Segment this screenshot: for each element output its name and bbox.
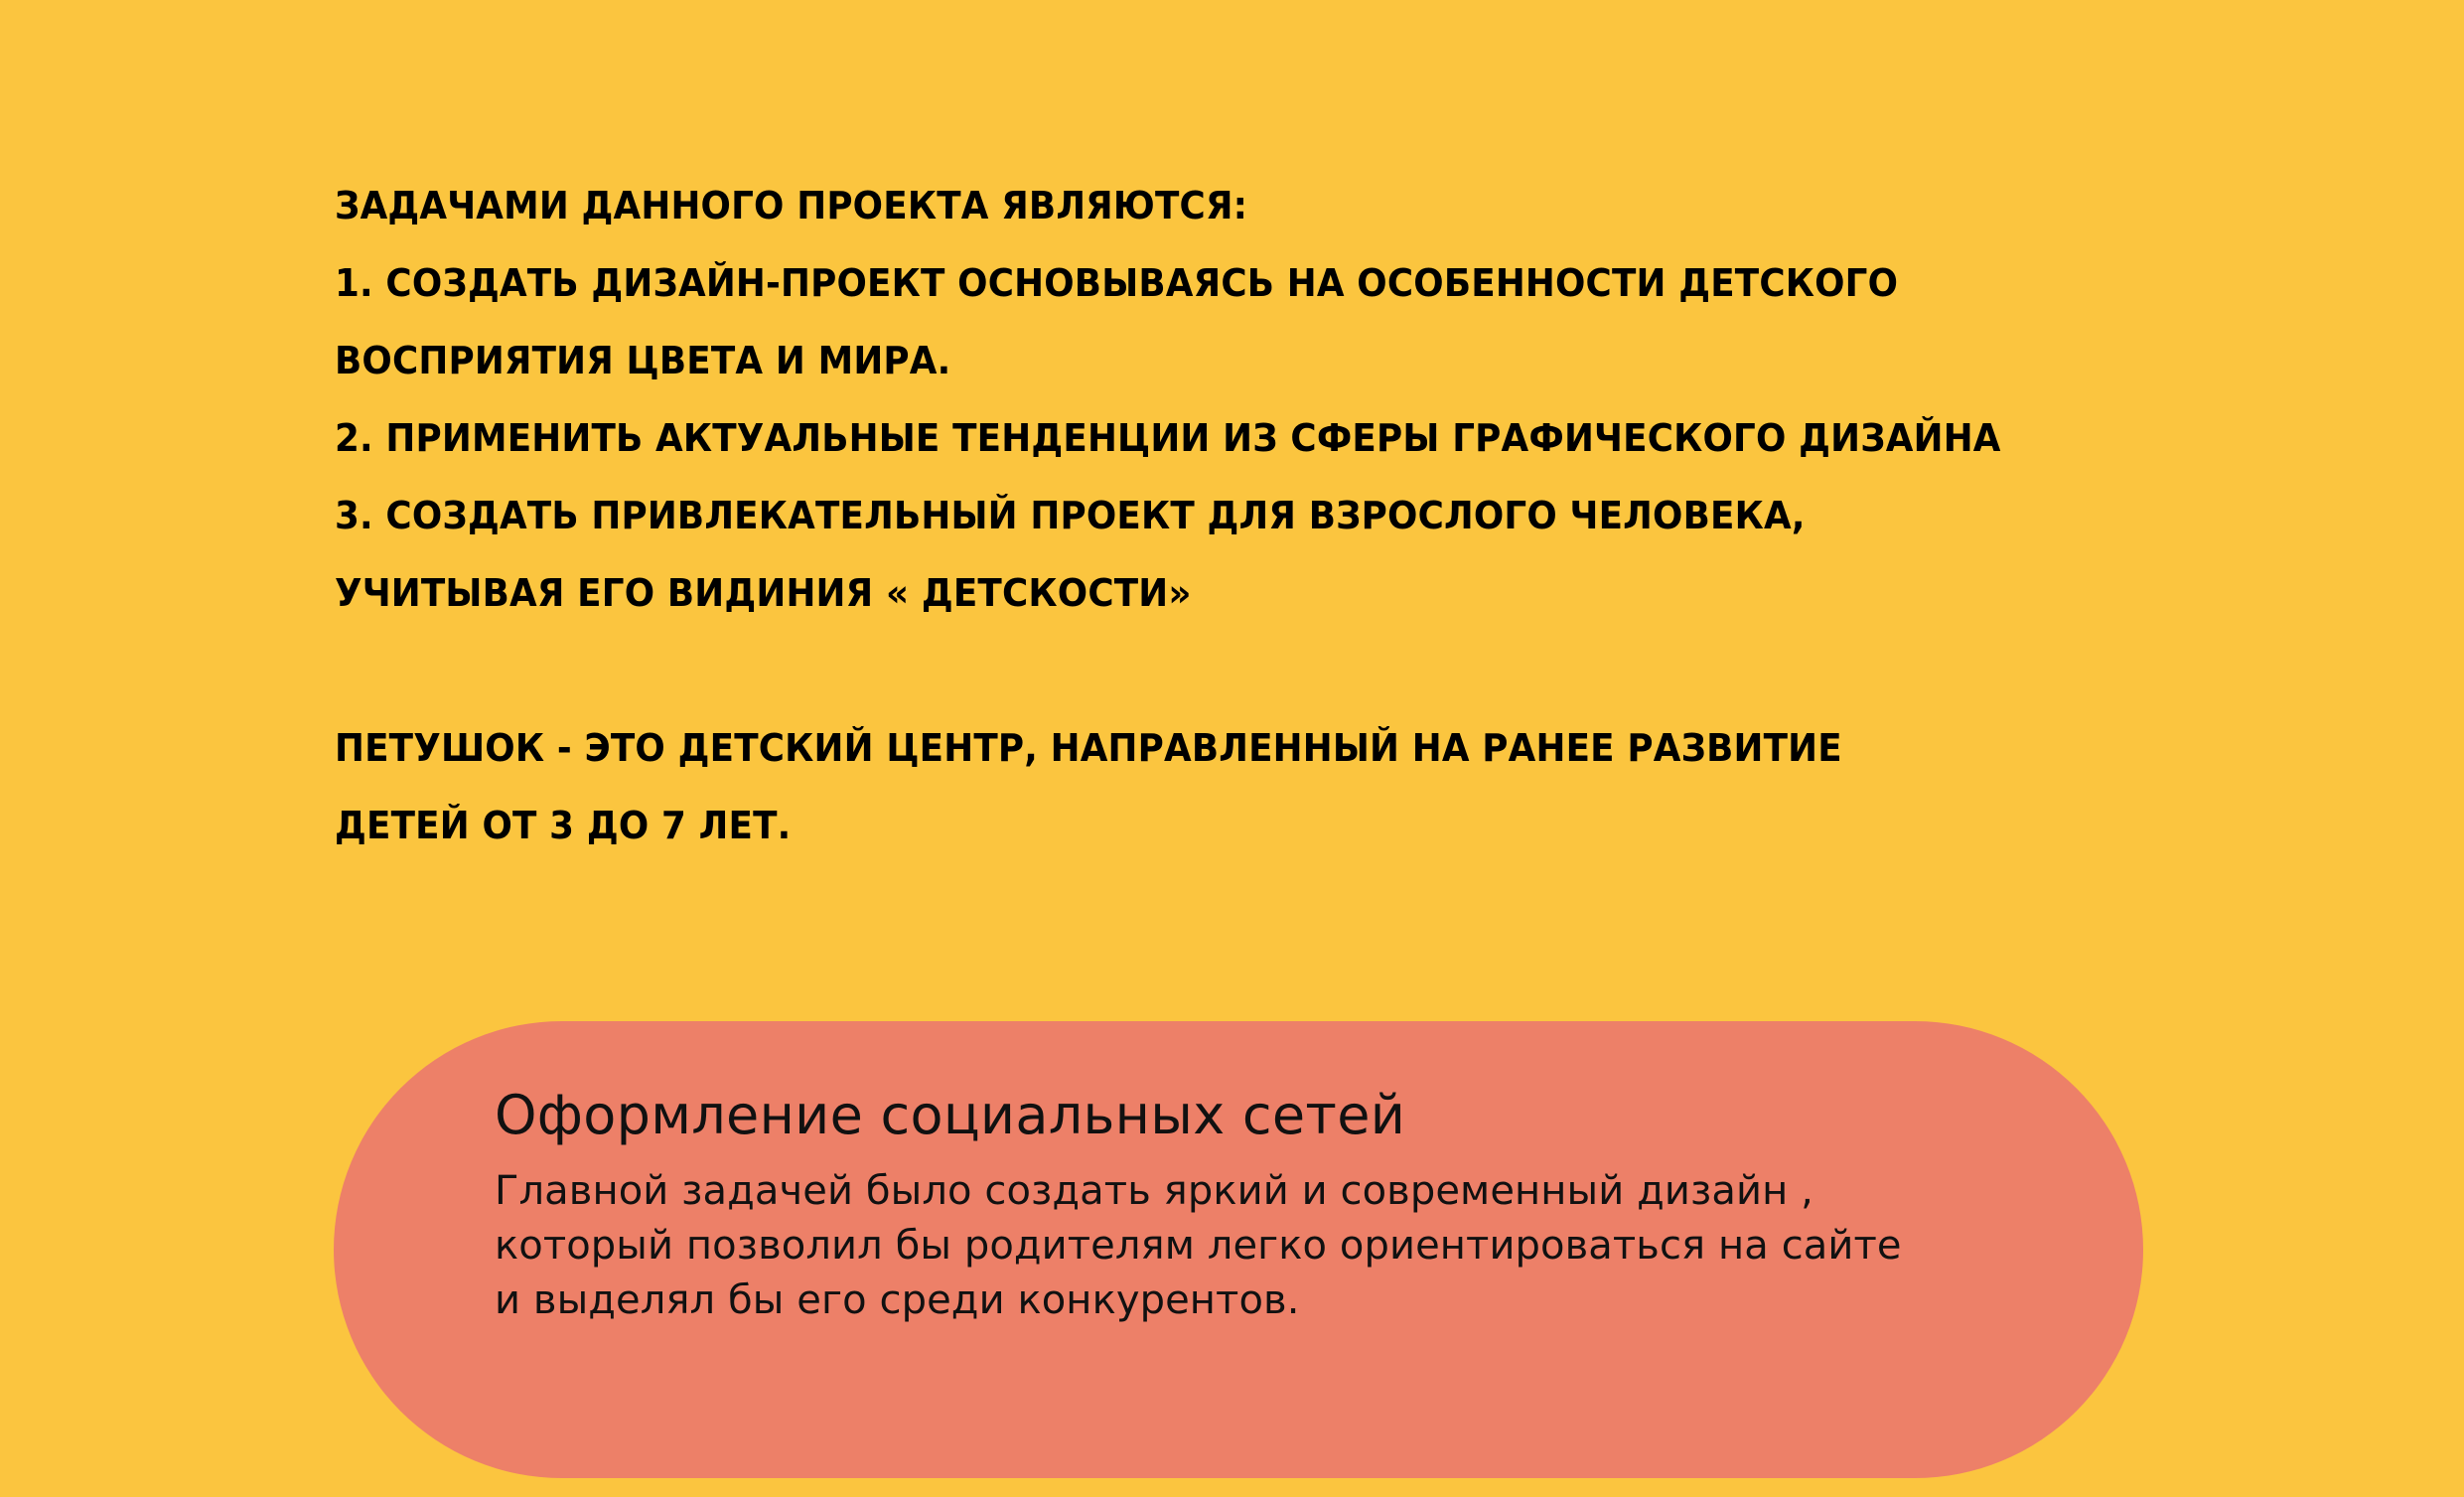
tasks-item-1-line-1: 1. СОЗДАТЬ ДИЗАЙН-ПРОЕКТ ОСНОВЫВАЯСЬ НА … xyxy=(335,244,2164,322)
tasks-item-2: 2. ПРИМЕНИТЬ АКТУАЛЬНЫЕ ТЕНДЕНЦИИ ИЗ СФЕ… xyxy=(335,399,2164,477)
promo-card: Оформление социальных сетей Главной зада… xyxy=(334,1021,2143,1478)
promo-card-content: Оформление социальных сетей Главной зада… xyxy=(495,1081,2044,1328)
tasks-item-3-line-1: 3. СОЗДАТЬ ПРИВЛЕКАТЕЛЬНЫЙ ПРОЕКТ ДЛЯ ВЗ… xyxy=(335,477,2164,554)
about-line-2: ДЕТЕЙ ОТ 3 ДО 7 ЛЕТ. xyxy=(335,787,2164,864)
tasks-item-1-line-2: ВОСПРИЯТИЯ ЦВЕТА И МИРА. xyxy=(335,322,2164,399)
promo-body-line-2: который позволил бы родителям легко орие… xyxy=(495,1219,2044,1273)
tasks-heading: ЗАДАЧАМИ ДАННОГО ПРОЕКТА ЯВЛЯЮТСЯ: xyxy=(335,167,2164,244)
promo-card-body: Главной задачей было создать яркий и сов… xyxy=(495,1164,2044,1328)
about-line-1: ПЕТУШОК - ЭТО ДЕТСКИЙ ЦЕНТР, НАПРАВЛЕННЫ… xyxy=(335,709,2164,787)
promo-body-line-3: и выделял бы его среди конкурентов. xyxy=(495,1273,2044,1328)
slide-canvas: ЗАДАЧАМИ ДАННОГО ПРОЕКТА ЯВЛЯЮТСЯ: 1. СО… xyxy=(0,0,2464,1497)
promo-body-line-1: Главной задачей было создать яркий и сов… xyxy=(495,1164,2044,1219)
tasks-item-3-line-2: УЧИТЫВАЯ ЕГО ВИДИНИЯ « ДЕТСКОСТИ» xyxy=(335,554,2164,632)
tasks-text-block: ЗАДАЧАМИ ДАННОГО ПРОЕКТА ЯВЛЯЮТСЯ: 1. СО… xyxy=(335,167,2281,864)
promo-card-title: Оформление социальных сетей xyxy=(495,1081,2044,1150)
